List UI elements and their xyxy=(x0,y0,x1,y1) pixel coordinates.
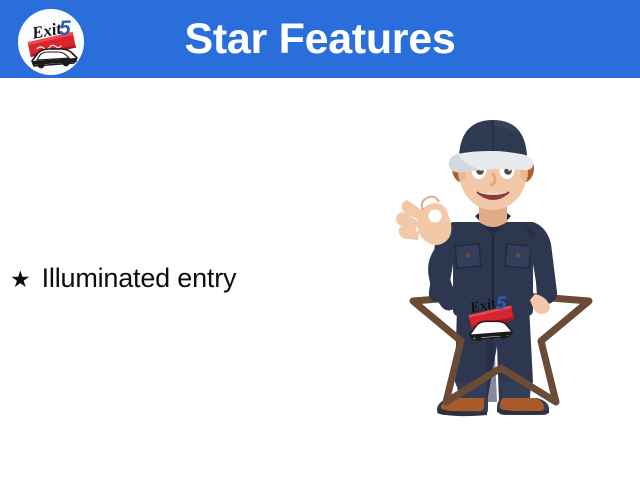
svg-text:5: 5 xyxy=(496,293,507,314)
page-title: Star Features xyxy=(0,0,640,78)
slide-header-bar: Exit 5 Star Features xyxy=(0,0,640,78)
list-item: ★ Illuminated entry xyxy=(10,262,380,294)
mechanic-illustration-graphic: Exit 5 xyxy=(383,110,623,440)
ok-hand-icon xyxy=(396,197,451,245)
mechanic-with-star-illustration: Exit 5 xyxy=(383,110,623,440)
shoe-right xyxy=(497,398,549,415)
list-item-label: Illuminated entry xyxy=(42,262,237,294)
feature-bullet-list: ★ Illuminated entry xyxy=(10,262,380,294)
star-bullet-icon: ★ xyxy=(10,268,31,291)
slide-body: ★ Illuminated entry xyxy=(0,78,640,480)
